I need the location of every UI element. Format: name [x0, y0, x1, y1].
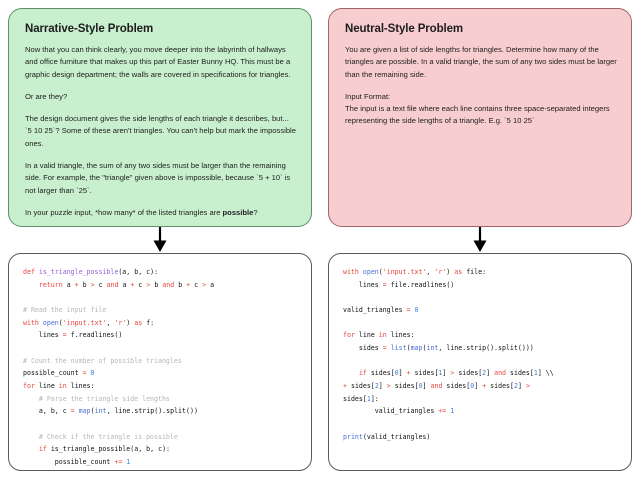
narrative-panel-body: Now that you can think clearly, you move…	[25, 44, 297, 219]
neutral-code-text: with open('input.txt', 'r') as file: lin…	[343, 266, 621, 443]
narrative-paragraph-1: Now that you can think clearly, you move…	[25, 44, 297, 81]
neutral-input-format-block: Input Format: The input is a text file w…	[345, 91, 617, 128]
narrative-paragraph-2: Or are they?	[25, 91, 297, 103]
narrative-question-suffix: ?	[253, 208, 257, 217]
down-arrow-icon-right	[468, 227, 492, 253]
narrative-paragraph-4: In a valid triangle, the sum of any two …	[25, 160, 297, 197]
neutral-code-box: with open('input.txt', 'r') as file: lin…	[328, 253, 632, 471]
down-arrow-icon-left	[148, 227, 172, 253]
neutral-paragraph-1: You are given a list of side lengths for…	[345, 44, 617, 81]
narrative-paragraph-3: The design document gives the side lengt…	[25, 113, 297, 150]
figure-canvas: Narrative-Style Problem Now that you can…	[0, 0, 640, 482]
narrative-code-text: def is_triangle_possible(a, b, c): retur…	[23, 266, 301, 471]
narrative-panel-title: Narrative-Style Problem	[25, 23, 297, 35]
narrative-problem-panel: Narrative-Style Problem Now that you can…	[8, 8, 312, 227]
neutral-problem-panel: Neutral-Style Problem You are given a li…	[328, 8, 632, 227]
neutral-panel-title: Neutral-Style Problem	[345, 23, 617, 35]
narrative-question-prefix: In your puzzle input, *how many* of the …	[25, 208, 223, 217]
neutral-panel-body: You are given a list of side lengths for…	[345, 44, 617, 128]
narrative-question-emphasis: possible	[223, 208, 254, 217]
narrative-question-line: In your puzzle input, *how many* of the …	[25, 207, 297, 219]
narrative-code-box: def is_triangle_possible(a, b, c): retur…	[8, 253, 312, 471]
